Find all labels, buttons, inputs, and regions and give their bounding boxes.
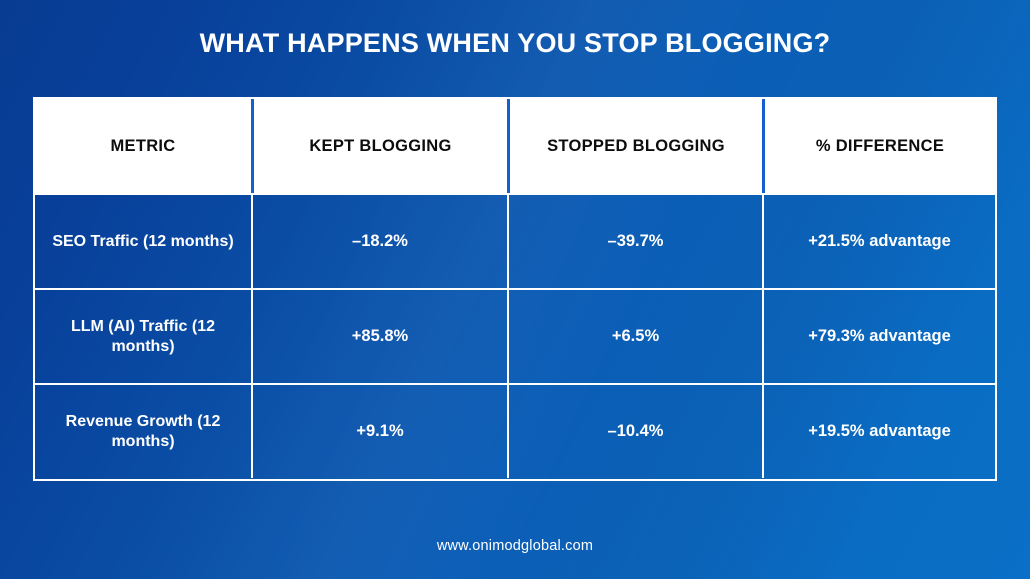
table-row: Revenue Growth (12 months) +9.1% –10.4% … <box>35 383 995 478</box>
cell-stopped-blogging: –39.7% <box>507 195 762 288</box>
table-header-row: METRIC KEPT BLOGGING STOPPED BLOGGING % … <box>35 99 995 193</box>
column-header-percent-difference: % DIFFERENCE <box>762 99 995 193</box>
footer-website-url: www.onimodglobal.com <box>0 538 1030 554</box>
cell-percent-difference: +79.3% advantage <box>762 290 995 383</box>
table-row: SEO Traffic (12 months) –18.2% –39.7% +2… <box>35 193 995 288</box>
column-header-kept-blogging: KEPT BLOGGING <box>251 99 507 193</box>
cell-kept-blogging: –18.2% <box>251 195 507 288</box>
cell-metric: LLM (AI) Traffic (12 months) <box>35 290 251 383</box>
comparison-table: METRIC KEPT BLOGGING STOPPED BLOGGING % … <box>33 97 997 481</box>
column-header-metric: METRIC <box>35 99 251 193</box>
cell-percent-difference: +21.5% advantage <box>762 195 995 288</box>
cell-stopped-blogging: –10.4% <box>507 385 762 478</box>
cell-percent-difference: +19.5% advantage <box>762 385 995 478</box>
cell-stopped-blogging: +6.5% <box>507 290 762 383</box>
table-row: LLM (AI) Traffic (12 months) +85.8% +6.5… <box>35 288 995 383</box>
cell-kept-blogging: +85.8% <box>251 290 507 383</box>
cell-metric: Revenue Growth (12 months) <box>35 385 251 478</box>
slide-canvas: WHAT HAPPENS WHEN YOU STOP BLOGGING? MET… <box>0 0 1030 579</box>
cell-kept-blogging: +9.1% <box>251 385 507 478</box>
page-title: WHAT HAPPENS WHEN YOU STOP BLOGGING? <box>0 28 1030 59</box>
column-header-stopped-blogging: STOPPED BLOGGING <box>507 99 762 193</box>
cell-metric: SEO Traffic (12 months) <box>35 195 251 288</box>
